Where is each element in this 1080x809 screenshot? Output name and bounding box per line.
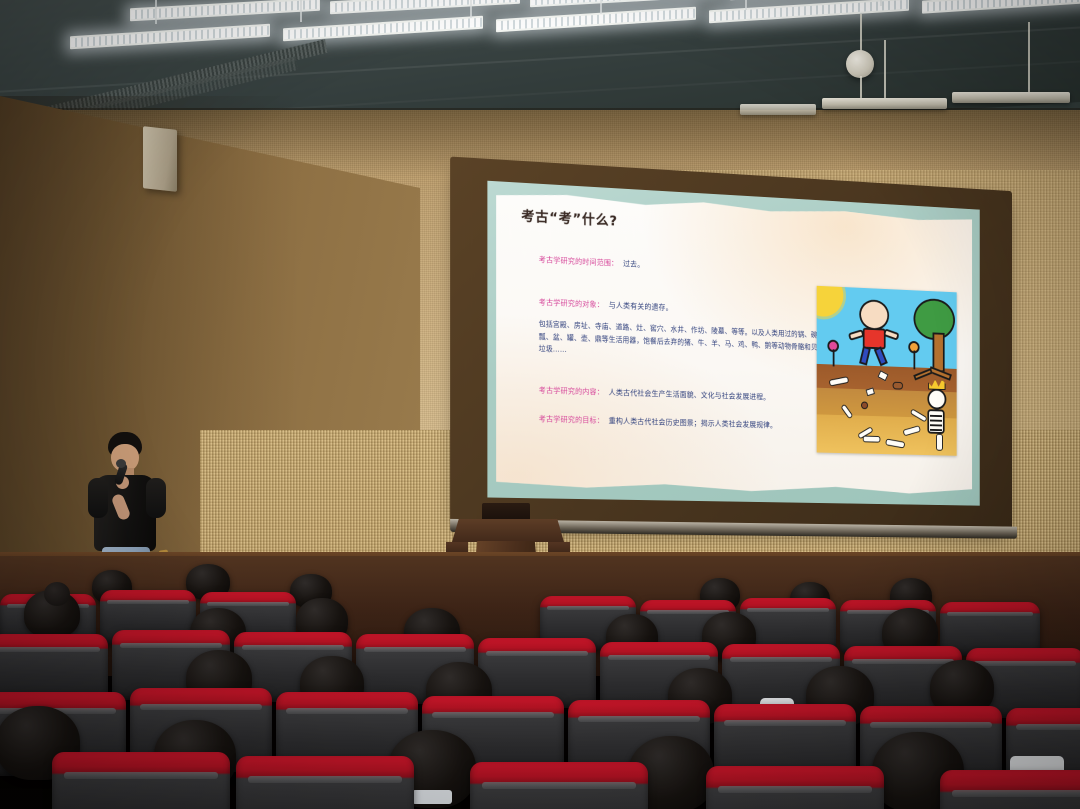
auditorium-photo: 考古“考”什么? 考古学研究的时间范围： 过去。 考古学研究的对象： 与人类有关… [0, 0, 1080, 809]
slide-row-time-range: 考古学研究的时间范围： 过去。 [539, 247, 835, 280]
acoustic-baffle [740, 104, 816, 115]
presentation-slide: 考古“考”什么? 考古学研究的时间范围： 过去。 考古学研究的对象： 与人类有关… [487, 181, 979, 506]
slide-body: 考古学研究的时间范围： 过去。 考古学研究的对象： 与人类有关的遗存。 包括宫殿… [539, 247, 835, 442]
auditorium-seat[interactable] [52, 752, 230, 809]
auditorium-seat[interactable] [940, 770, 1080, 809]
microphone-head [116, 459, 126, 468]
slide-value-object: 与人类有关的遗存。 [609, 301, 673, 313]
slide-label-goal: 考古学研究的目标： [539, 414, 604, 425]
baffle-rod [1028, 22, 1030, 92]
baffle-rod [860, 76, 862, 98]
slide-paper-background: 考古“考”什么? 考古学研究的时间范围： 过去。 考古学研究的对象： 与人类有关… [496, 189, 972, 496]
auditorium-seat[interactable] [236, 756, 414, 809]
slide-value-time-range: 过去。 [623, 259, 644, 269]
slide-label-content: 考古学研究的内容： [539, 385, 604, 396]
slide-row-content: 考古学研究的内容： 人类古代社会生产生活面貌、文化与社会发展进程。 [539, 377, 835, 405]
drawing-skeleton-ribcage [927, 409, 944, 434]
auditorium-seat[interactable] [706, 766, 884, 809]
drawing-flower-stem [914, 350, 916, 369]
presenter-sleeve-right [146, 478, 166, 518]
drawing-flower-stem [833, 349, 835, 366]
light-hanger [745, 0, 747, 10]
slide-label-time-range: 考古学研究的时间范围： [539, 255, 619, 268]
drawing-pottery-shard [893, 382, 903, 390]
light-hanger [155, 0, 157, 24]
drawing-skeleton-skull [927, 389, 946, 410]
drawing-pottery-shard [861, 401, 868, 409]
acoustic-baffle [822, 98, 947, 109]
acoustic-baffle [952, 92, 1070, 103]
light-hanger [300, 0, 302, 22]
drawing-skeleton-leg [936, 434, 943, 451]
lectern-monitor [482, 503, 530, 521]
audience-hair-bun [44, 582, 70, 606]
presenter-sleeve-left [88, 478, 108, 518]
wall-mounted-speaker [143, 126, 177, 192]
light-hanger [600, 0, 602, 14]
slide-value-goal: 重构人类古代社会历史图景；揭示人类社会发展规律。 [609, 416, 777, 429]
slide-value-content: 人类古代社会生产生活面貌、文化与社会发展进程。 [609, 387, 770, 401]
light-hanger [470, 0, 472, 18]
baffle-rod [860, 14, 862, 52]
auditorium-seat[interactable] [470, 762, 648, 809]
lectern-top [452, 519, 564, 542]
light-hanger [880, 0, 882, 6]
drawing-boy-head [859, 299, 889, 331]
ceiling-speaker [846, 50, 874, 78]
slide-row-goal: 考古学研究的目标： 重构人类古代社会历史图景；揭示人类社会发展规律。 [539, 406, 835, 433]
drawing-buried-bone [863, 436, 881, 443]
slide-title: 考古“考”什么? [521, 205, 617, 230]
projection-screen[interactable]: 考古“考”什么? 考古学研究的时间范围： 过去。 考古学研究的对象： 与人类有关… [458, 163, 1005, 527]
audience-area [0, 556, 1080, 809]
drawing-tree-trunk [933, 332, 945, 372]
audience-collar [412, 790, 452, 804]
slide-label-object: 考古学研究的对象： [539, 298, 604, 310]
archaeology-child-drawing [817, 286, 957, 456]
